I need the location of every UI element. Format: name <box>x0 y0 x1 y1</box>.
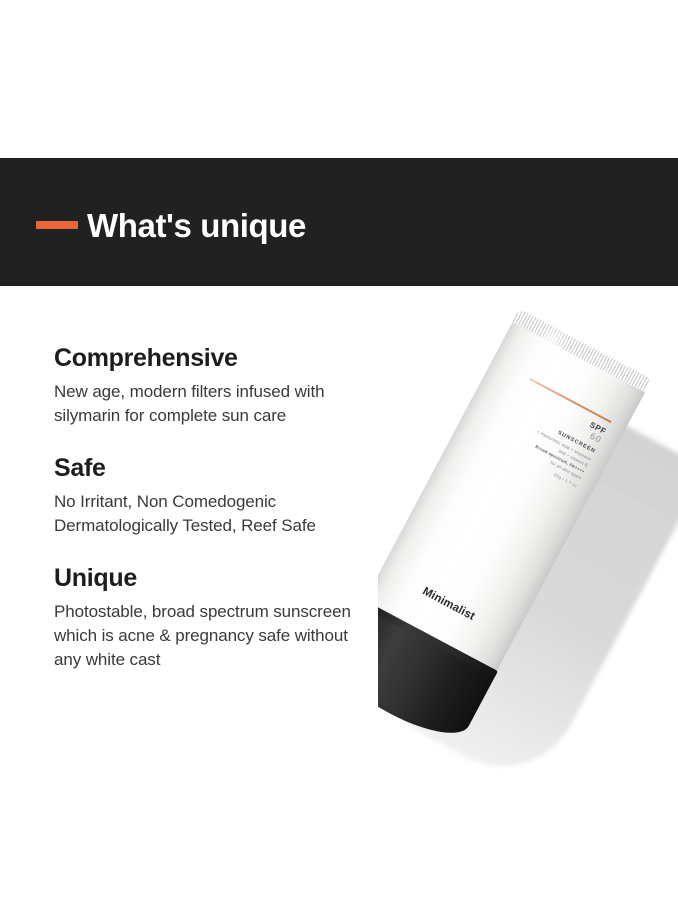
accent-dash-icon <box>36 221 78 229</box>
header-inner: What's unique <box>0 209 306 242</box>
feature-title: Safe <box>54 454 374 483</box>
feature-description: New age, modern filters infused with sil… <box>54 380 374 428</box>
section-header-band: What's unique <box>0 158 678 286</box>
feature-list: Comprehensive New age, modern filters in… <box>54 344 374 672</box>
feature-title: Unique <box>54 564 374 593</box>
product-image: SPF 60 SUNSCREEN + Hyaluronic acid + sil… <box>378 306 678 806</box>
feature-description: No Irritant, Non Comedogenic Dermatologi… <box>54 490 374 538</box>
content-area: Comprehensive New age, modern filters in… <box>0 286 678 924</box>
feature-item: Unique Photostable, broad spectrum sunsc… <box>54 564 374 672</box>
top-white-margin <box>0 0 678 158</box>
feature-item: Safe No Irritant, Non Comedogenic Dermat… <box>54 454 374 538</box>
product-feature-page: What's unique Comprehensive New age, mod… <box>0 0 678 924</box>
feature-description: Photostable, broad spectrum sunscreen wh… <box>54 600 374 672</box>
feature-item: Comprehensive New age, modern filters in… <box>54 344 374 428</box>
feature-title: Comprehensive <box>54 344 374 373</box>
page-title: What's unique <box>87 209 306 242</box>
